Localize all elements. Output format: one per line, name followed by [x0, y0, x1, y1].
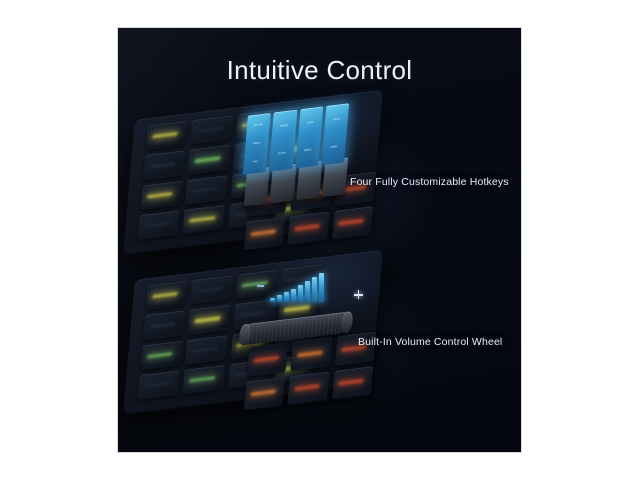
keycap — [183, 365, 225, 395]
volume-bar — [305, 281, 310, 302]
keycap — [291, 337, 333, 371]
keycap — [190, 115, 232, 145]
hotkey-badge-3: Light Effect — [295, 106, 323, 168]
keycap — [140, 180, 182, 210]
volume-bar — [312, 277, 317, 302]
volume-wheel-product-photo — [128, 266, 378, 401]
keycap — [183, 205, 225, 235]
keycap — [332, 206, 374, 240]
hotkey-badge-line: Light — [307, 122, 313, 126]
hotkey-badge-line: Key — [253, 160, 258, 164]
keycap — [244, 217, 286, 251]
minus-icon — [257, 285, 264, 287]
keycap — [140, 340, 182, 370]
volume-bar — [270, 298, 275, 302]
keycap — [190, 275, 232, 305]
hotkey-badge-line: Profile — [278, 152, 286, 156]
keycap — [143, 151, 185, 181]
volume-bar — [291, 289, 296, 302]
product-feature-panel: Intuitive Control — [118, 28, 521, 452]
hotkey-badge-line: Effect — [304, 149, 311, 153]
keycap — [185, 175, 227, 205]
hotkey-badge-line: Macro — [253, 142, 261, 146]
keycap — [188, 305, 230, 335]
volume-bar — [298, 285, 303, 302]
keycap — [145, 121, 187, 151]
page-title: Intuitive Control — [118, 55, 521, 86]
keycap — [288, 211, 330, 245]
hotkey-badge-1: Record Macro Key — [243, 113, 271, 175]
plus-icon — [354, 290, 363, 299]
feature-label-hotkeys: Four Fully Customizable Hotkeys — [350, 176, 509, 188]
keycap — [332, 366, 374, 400]
hotkey-badge-2: Switch Profile — [269, 110, 297, 172]
screenshot-root: Intuitive Control — [0, 0, 640, 480]
volume-bar — [284, 292, 289, 302]
keycap — [185, 335, 227, 365]
keycap — [244, 377, 286, 411]
hotkey-badge-line: Game — [332, 118, 340, 122]
hotkey-badge-line: Record — [254, 123, 263, 127]
keycap — [188, 145, 230, 175]
keycap — [143, 311, 185, 341]
hotkey-badge-line: Mode — [330, 146, 337, 150]
keycap — [138, 370, 180, 400]
keycap — [288, 371, 330, 405]
volume-bar — [277, 295, 282, 302]
volume-level-indicator — [270, 272, 348, 302]
hotkey-badge-line: Switch — [280, 125, 288, 129]
keycap — [247, 342, 289, 376]
hotkeys-product-photo: Record Macro Key Switch Profile Light Ef… — [128, 106, 378, 236]
feature-label-volume-wheel: Built-In Volume Control Wheel — [358, 336, 502, 348]
keycap — [145, 281, 187, 311]
volume-bar — [319, 273, 324, 302]
keycap — [138, 210, 180, 240]
